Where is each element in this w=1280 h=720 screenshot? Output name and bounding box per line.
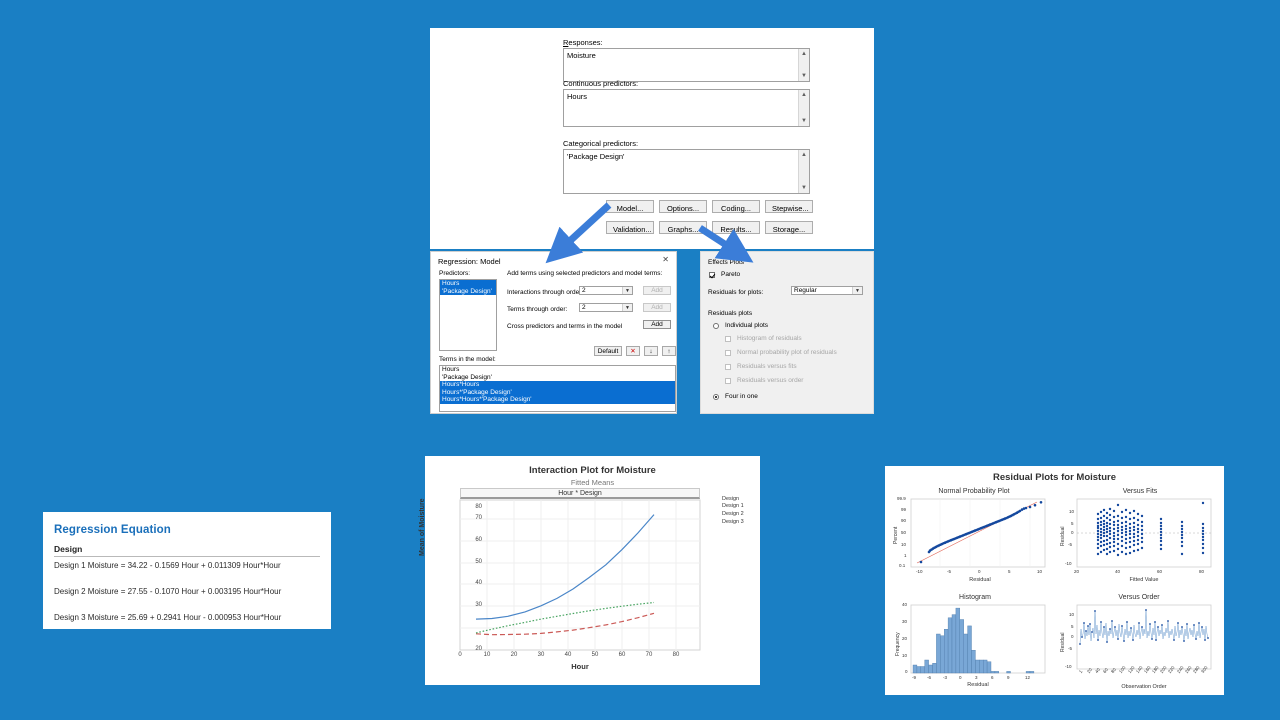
normal-probability-plot-checkbox[interactable] [725,350,731,356]
results-button[interactable]: Results... [712,221,760,234]
legend-label: Design 3 [722,519,744,525]
x-tick-label: 30 [533,652,549,658]
histogram-of-residuals-checkbox[interactable] [725,336,731,342]
residuals-plots-label: Residuals plots [708,310,752,317]
continuous-predictors-label: Continuous predictors: [563,79,810,88]
residuals-versus-order-checkbox[interactable] [725,378,731,384]
residual-plots-figure: Residual Plots for Moisture Normal Proba… [885,466,1224,695]
terms-order-value: 2 [582,304,586,311]
legend-label: Design 1 [722,503,744,509]
move-up-button[interactable]: ↑ [662,346,676,356]
residuals-versus-order-label[interactable]: Residuals versus order [737,377,803,384]
responses-scrollbar[interactable]: ▲ ▼ [798,49,809,81]
effects-plots-panel: Effects Plots Pareto Residuals for plots… [700,251,874,414]
cross-add-button[interactable]: Add [643,320,671,329]
individual-plots-label[interactable]: Individual plots [725,322,768,329]
continuous-predictors-item[interactable]: Hours [567,92,806,101]
individual-plots-radio[interactable] [713,323,719,329]
x-tick-label: 50 [587,652,603,658]
move-down-button[interactable]: ↓ [644,346,658,356]
y-tick-label: -5 [1068,646,1072,651]
responses-field-group: Responses: Moisture ▲ ▼ [563,38,810,82]
versus-order-x-axis-title: Observation Order [1104,684,1184,690]
x-tick-label: 60 [614,652,630,658]
interactions-order-value: 2 [582,287,586,294]
regression-equation-card: Regression Equation Design Design 1 Mois… [43,512,331,629]
x-axis-title: Hour [425,662,735,671]
interactions-through-order-label: Interactions through order: [507,289,583,296]
add-terms-button[interactable]: Add [643,303,671,312]
x-tick-label: 10 [479,652,495,658]
categorical-predictors-listbox[interactable]: 'Package Design' ▲ ▼ [563,149,810,194]
x-tick-label: 0 [452,652,468,658]
categorical-predictors-item[interactable]: 'Package Design' [567,152,806,161]
terms-item[interactable]: Hours*Hours*'Package Design' [440,396,675,404]
residuals-versus-fits-checkbox[interactable] [725,364,731,370]
responses-listbox[interactable]: Moisture ▲ ▼ [563,48,810,82]
scroll-up-icon[interactable]: ▲ [799,150,809,160]
add-terms-label: Add terms using selected predictors and … [507,270,662,277]
continuous-predictors-field-group: Continuous predictors: Hours ▲ ▼ [563,79,810,127]
storage-button[interactable]: Storage... [765,221,813,234]
add-interactions-button[interactable]: Add [643,286,671,295]
x-tick-label: 40 [560,652,576,658]
terms-item[interactable]: Hours*Hours [440,381,675,389]
four-in-one-radio[interactable] [713,394,719,400]
stepwise-button[interactable]: Stepwise... [765,200,813,213]
validation-button[interactable]: Validation... [606,221,654,234]
residuals-for-plots-select[interactable]: Regular ▼ [791,286,863,295]
terms-through-order-select[interactable]: 2 ▼ [579,303,633,312]
regression-model-dialog: Regression: Model ✕ Predictors: Hours 'P… [430,251,677,414]
x-tick-label: 20 [506,652,522,658]
x-tick-label: 80 [668,652,684,658]
options-button[interactable]: Options... [659,200,707,213]
y-tick-label: 10 [1069,612,1074,617]
effects-plots-section-title: Effects Plots [708,259,744,266]
pareto-label[interactable]: Pareto [721,271,740,278]
chevron-down-icon[interactable]: ▼ [622,304,632,311]
regression-model-title: Regression: Model [438,257,501,266]
residuals-for-plots-label: Residuals for plots: [708,289,763,296]
predictors-item[interactable]: 'Package Design' [440,288,496,296]
categorical-predictors-label: Categorical predictors: [563,139,810,148]
divider [54,556,320,557]
predictors-item[interactable]: Hours [440,280,496,288]
histogram-of-residuals-label[interactable]: Histogram of residuals [737,335,802,342]
chevron-down-icon[interactable]: ▼ [622,287,632,294]
close-icon[interactable]: ✕ [662,256,669,264]
continuous-predictors-listbox[interactable]: Hours ▲ ▼ [563,89,810,127]
coding-button[interactable]: Coding... [712,200,760,213]
y-tick-label: 70 [462,515,482,521]
model-button[interactable]: Model... [606,200,654,213]
y-tick-label: 50 [462,559,482,565]
residuals-versus-fits-label[interactable]: Residuals versus fits [737,363,797,370]
scroll-down-icon[interactable]: ▼ [799,183,809,193]
dialog-body: Responses: Moisture ▲ ▼ Continuous predi… [430,28,874,249]
versus-order-y-axis-title: Residual [1060,633,1066,652]
terms-item[interactable]: Hours*'Package Design' [440,389,675,397]
y-tick-label: 40 [462,580,482,586]
categorical-predictors-field-group: Categorical predictors: 'Package Design'… [563,139,810,194]
regression-equation-row: Design 1 Moisture = 34.22 - 0.1569 Hour … [54,561,281,570]
regression-equation-row: Design 2 Moisture = 27.55 - 0.1070 Hour … [54,587,281,596]
legend-item-design-3[interactable]: Design 3 [707,519,757,527]
categorical-predictors-scrollbar[interactable]: ▲ ▼ [798,150,809,193]
delete-term-button[interactable]: ✕ [626,346,640,356]
terms-through-order-label: Terms through order: [507,306,567,313]
graphs-button[interactable]: Graphs... [659,221,707,234]
pareto-checkbox[interactable] [709,272,715,278]
default-button[interactable]: Default [594,346,622,356]
predictors-listbox[interactable]: Hours 'Package Design' [439,279,497,351]
scroll-up-icon[interactable]: ▲ [799,49,809,59]
y-tick-label: 5 [1071,624,1074,629]
terms-item[interactable]: 'Package Design' [440,374,675,382]
y-tick-label: 80 [462,504,482,510]
terms-in-model-listbox[interactable]: Hours 'Package Design' Hours*Hours Hours… [439,365,676,412]
legend-item-design-1[interactable]: Design 1 [707,503,757,511]
scroll-up-icon[interactable]: ▲ [799,90,809,100]
residuals-for-plots-value: Regular [794,287,817,294]
y-tick-label: 30 [462,602,482,608]
responses-item[interactable]: Moisture [567,51,806,60]
y-axis-title: Mean of Moisture [419,498,426,556]
continuous-predictors-scrollbar[interactable]: ▲ ▼ [798,90,809,126]
interaction-plot-figure: Interaction Plot for Moisture Fitted Mea… [425,456,760,685]
versus-order-canvas [885,466,1224,695]
regression-equation-row: Design 3 Moisture = 25.69 + 0.2941 Hour … [54,613,281,622]
interaction-plot-legend: Design Design 1 Design 2 Design 3 [707,496,757,527]
four-in-one-label[interactable]: Four in one [725,393,758,400]
minitab-regression-dialog: Responses: Moisture ▲ ▼ Continuous predi… [430,28,874,248]
responses-label: Responses: [563,38,810,47]
scroll-down-icon[interactable]: ▼ [799,116,809,126]
terms-item[interactable]: Hours [440,366,675,374]
legend-item-design-2[interactable]: Design 2 [707,511,757,519]
regression-equation-title: Regression Equation [54,524,171,536]
predictors-label: Predictors: [439,270,470,277]
chevron-down-icon[interactable]: ▼ [852,287,862,294]
terms-in-model-label: Terms in the model: [439,356,496,363]
regression-equation-subhead: Design [54,544,82,554]
cross-predictors-label: Cross predictors and terms in the model [507,323,622,330]
y-tick-label: -10 [1065,664,1072,669]
legend-title: Design [722,496,757,502]
x-tick-label: 1 [1078,669,1083,674]
regression-model-body: Predictors: Hours 'Package Design' Add t… [431,268,676,415]
y-tick-label: 60 [462,537,482,543]
normal-probability-plot-label[interactable]: Normal probability plot of residuals [737,349,837,356]
x-tick-label: 70 [641,652,657,658]
y-tick-label: 0 [1071,634,1074,639]
interactions-through-order-select[interactable]: 2 ▼ [579,286,633,295]
legend-label: Design 2 [722,511,744,517]
versus-order-x-tick-group: 1 20 40 60 80 100 120 140 160 180 200 22… [1077,670,1217,684]
